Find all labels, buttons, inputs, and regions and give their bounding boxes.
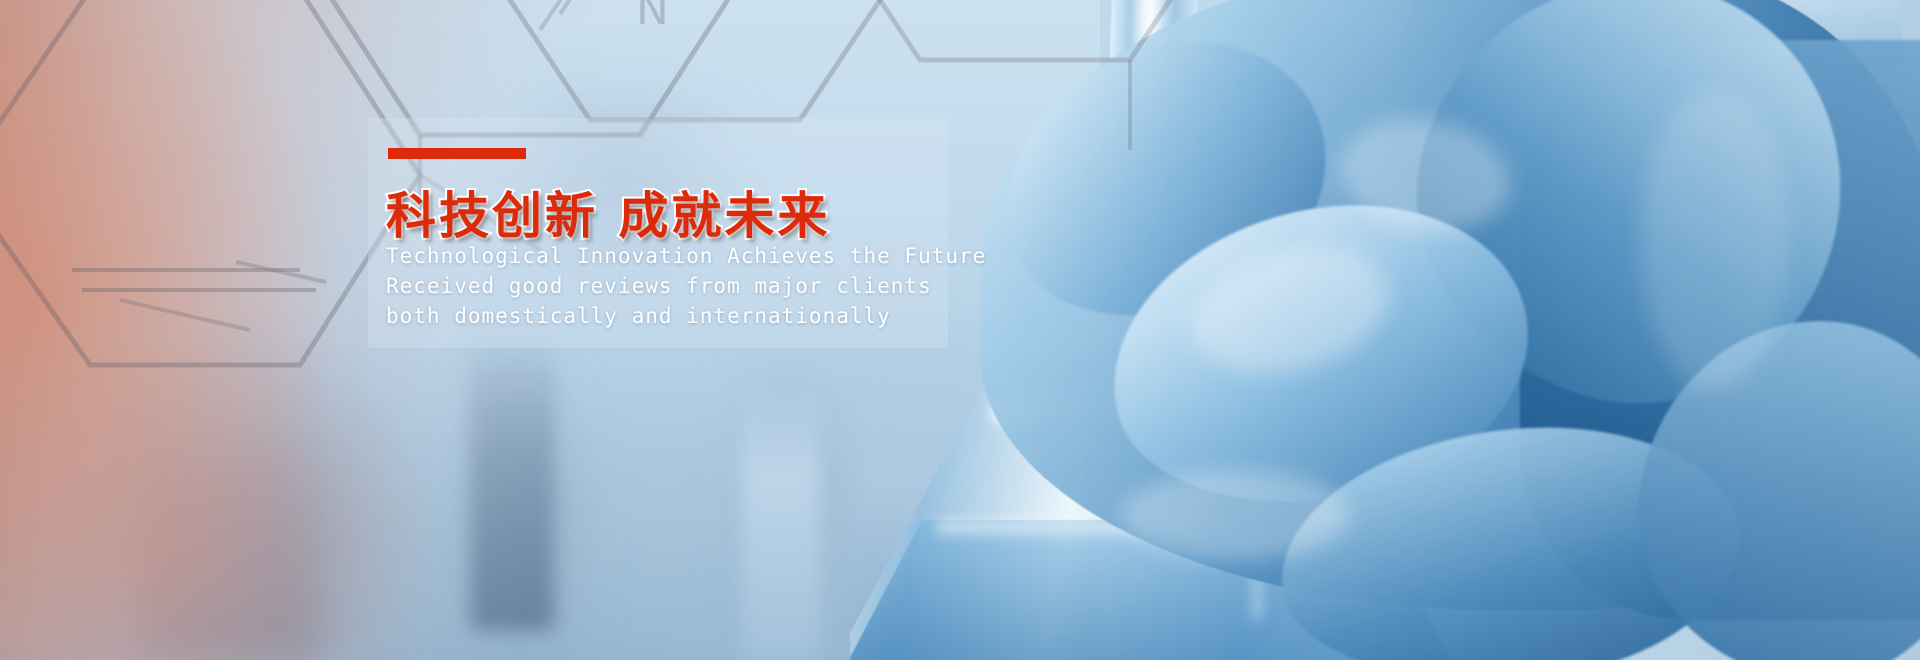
accent-bar bbox=[388, 148, 526, 159]
subtitle-line-3: both domestically and internationally bbox=[386, 301, 986, 331]
blurred-glass-cylinder bbox=[742, 378, 820, 660]
glove-highlight bbox=[1120, 470, 1350, 560]
page-title: 科技创新 成就未来 bbox=[386, 176, 830, 248]
hero-banner: 200 APP 200 100 bbox=[0, 0, 1920, 660]
blurred-equipment-shadow bbox=[140, 420, 320, 660]
glove-highlight bbox=[1640, 90, 1790, 390]
hero-subtitle: Technological Innovation Achieves the Fu… bbox=[386, 241, 986, 331]
subtitle-line-2: Received good reviews from major clients bbox=[386, 271, 986, 301]
subtitle-line-1: Technological Innovation Achieves the Fu… bbox=[386, 241, 986, 271]
blurred-lab-stand bbox=[470, 330, 554, 630]
